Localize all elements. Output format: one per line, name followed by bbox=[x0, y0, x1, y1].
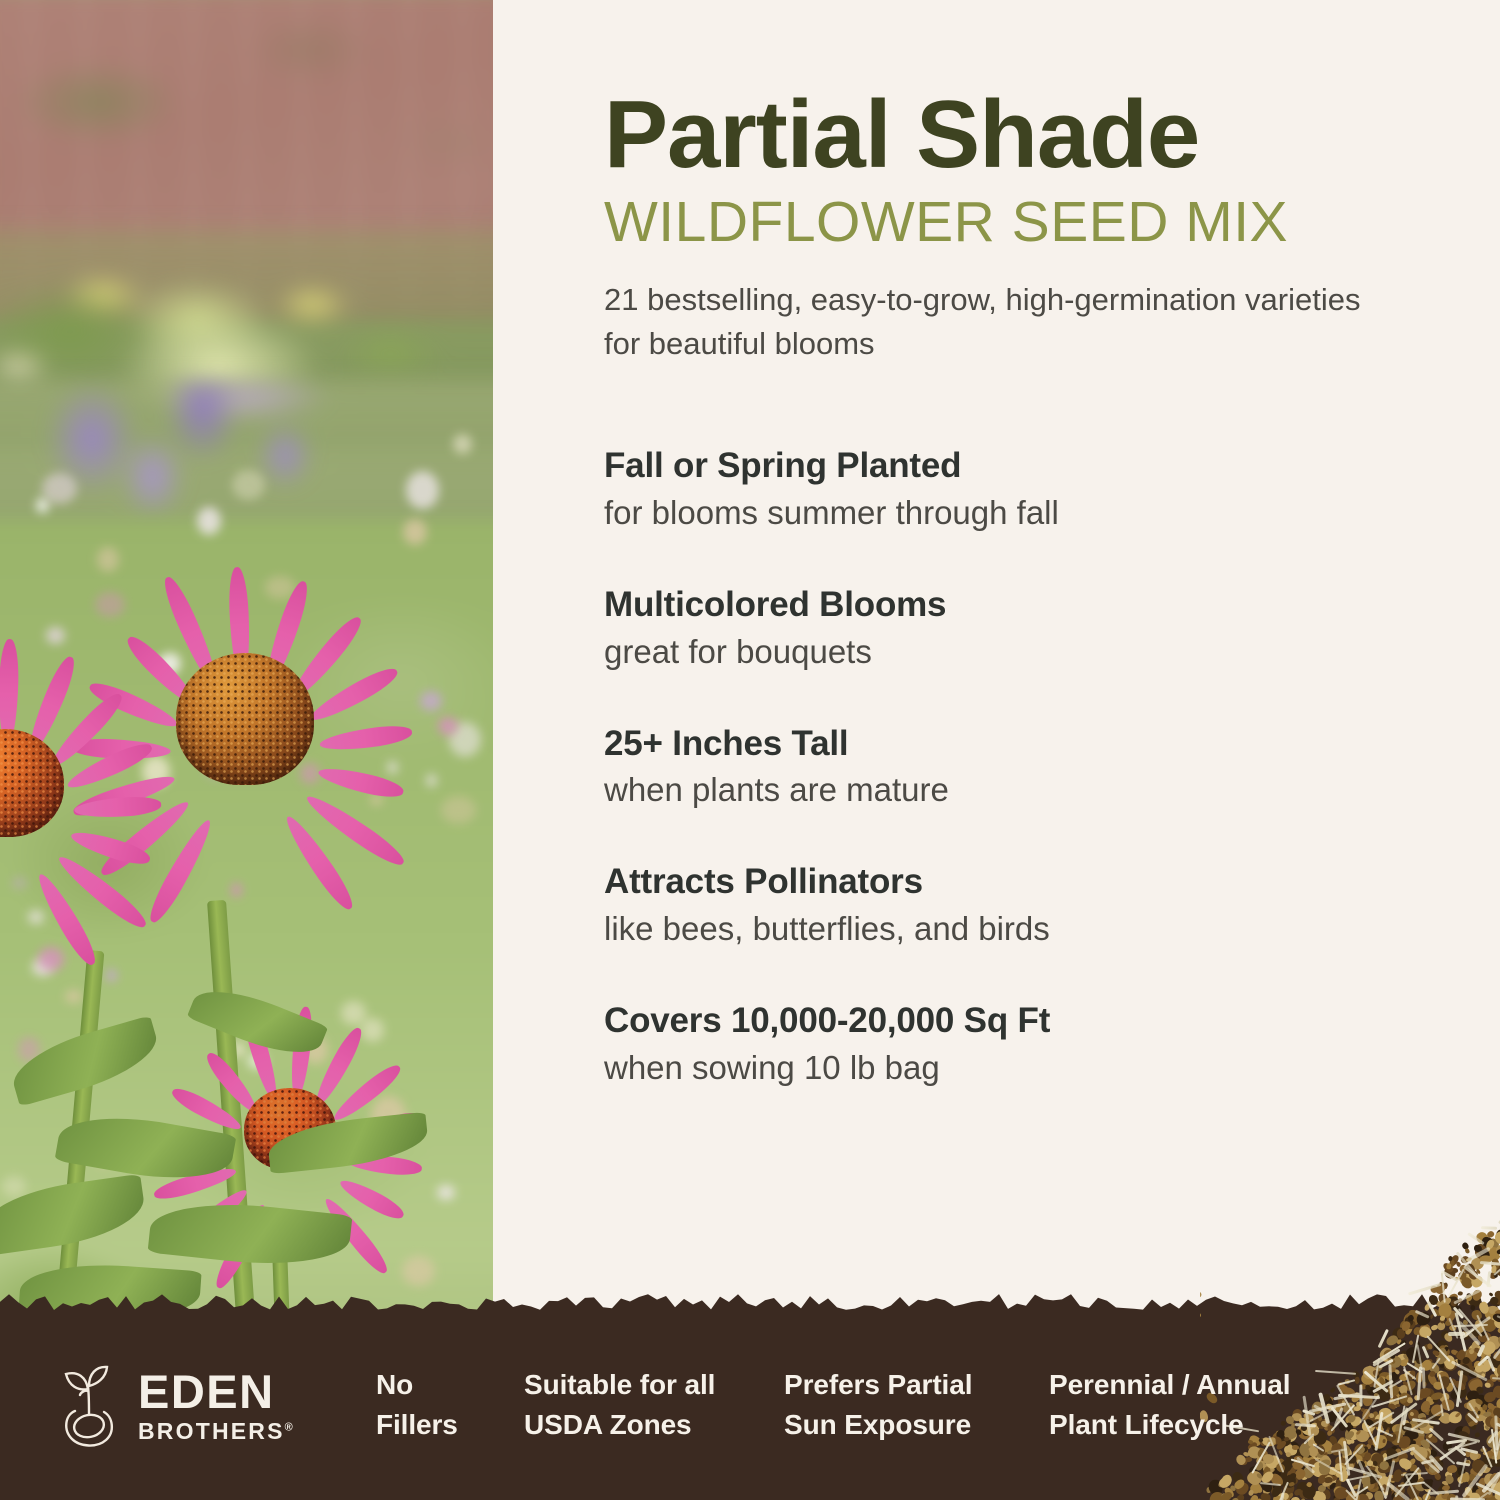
badge-line-1: Suitable for all bbox=[524, 1365, 784, 1405]
seed bbox=[1473, 1244, 1482, 1252]
feature-heading: Covers 10,000-20,000 Sq Ft bbox=[604, 999, 1444, 1043]
background-bloom bbox=[95, 592, 125, 618]
seed bbox=[1455, 1277, 1460, 1281]
background-bloom bbox=[231, 883, 243, 897]
badge-line-1: Prefers Partial bbox=[784, 1365, 1049, 1405]
seed bbox=[1486, 1230, 1495, 1239]
background-bloom bbox=[97, 547, 119, 571]
background-bloom bbox=[437, 1185, 456, 1200]
attribute-badges: NoFillersSuitable for allUSDA ZonesPrefe… bbox=[376, 1365, 1319, 1445]
footer-bar: EDEN BROTHERS® NoFillersSuitable for all… bbox=[0, 1310, 1500, 1500]
seed bbox=[1489, 1272, 1497, 1280]
seed bbox=[1494, 1227, 1500, 1243]
seed bbox=[1493, 1230, 1500, 1245]
seed bbox=[1458, 1271, 1468, 1281]
seed bbox=[1486, 1236, 1500, 1251]
feature-item: Attracts Pollinatorslike bees, butterfli… bbox=[604, 860, 1444, 951]
background-bloom bbox=[65, 990, 82, 1003]
background-bloom bbox=[341, 1001, 366, 1025]
seed bbox=[1497, 1248, 1500, 1255]
flower-cone-center bbox=[176, 653, 314, 784]
attribute-badge: Suitable for allUSDA Zones bbox=[524, 1365, 784, 1445]
seed bbox=[1476, 1268, 1481, 1274]
seed bbox=[1477, 1249, 1484, 1256]
feature-item: Covers 10,000-20,000 Sq Ftwhen sowing 10… bbox=[604, 999, 1444, 1090]
badge-line-2: Plant Lifecycle bbox=[1049, 1405, 1319, 1445]
seed bbox=[1458, 1264, 1468, 1273]
seed bbox=[1491, 1263, 1500, 1275]
seed bbox=[1485, 1246, 1500, 1262]
seed bbox=[1466, 1257, 1473, 1262]
badge-line-1: Perennial / Annual bbox=[1049, 1365, 1319, 1405]
seed bbox=[1446, 1263, 1451, 1269]
feature-subtext: when sowing 10 lb bag bbox=[604, 1047, 1444, 1090]
background-bloom bbox=[46, 627, 64, 644]
seed bbox=[1455, 1261, 1462, 1268]
background-bloom bbox=[403, 519, 427, 545]
seed bbox=[1480, 1254, 1492, 1264]
seed bbox=[1474, 1230, 1490, 1246]
seed bbox=[1485, 1238, 1496, 1250]
seed bbox=[1470, 1256, 1484, 1270]
feature-subtext: when plants are mature bbox=[604, 769, 1444, 812]
background-bloom bbox=[197, 507, 220, 535]
page-title: Partial Shade bbox=[604, 0, 1444, 184]
background-bloom bbox=[441, 796, 476, 824]
background-bloom bbox=[387, 761, 398, 774]
background-bloom bbox=[402, 1256, 435, 1286]
seed bbox=[1491, 1265, 1496, 1273]
feature-list: Fall or Spring Plantedfor blooms summer … bbox=[604, 444, 1444, 1089]
seed bbox=[1495, 1242, 1500, 1254]
registered-mark: ® bbox=[285, 1421, 295, 1433]
badge-line-2: Fillers bbox=[376, 1405, 524, 1445]
feature-item: 25+ Inches Tallwhen plants are mature bbox=[604, 722, 1444, 813]
seed-awn bbox=[1480, 1261, 1500, 1266]
seed bbox=[1460, 1254, 1471, 1265]
seed bbox=[1493, 1271, 1498, 1277]
background-bloom bbox=[42, 473, 77, 504]
content-column: Partial Shade WILDFLOWER SEED MIX 21 bes… bbox=[604, 0, 1444, 1310]
seed bbox=[1448, 1255, 1454, 1261]
attribute-badge: Perennial / AnnualPlant Lifecycle bbox=[1049, 1365, 1319, 1445]
seed bbox=[1474, 1243, 1488, 1259]
coneflower bbox=[120, 630, 370, 880]
background-bloom bbox=[426, 774, 437, 786]
background-bloom bbox=[38, 947, 64, 971]
seed bbox=[1481, 1236, 1492, 1246]
seed bbox=[1464, 1264, 1476, 1279]
seed bbox=[1464, 1248, 1470, 1254]
feature-subtext: like bees, butterflies, and birds bbox=[604, 908, 1444, 951]
background-bloom bbox=[232, 470, 265, 500]
badge-line-2: Sun Exposure bbox=[784, 1405, 1049, 1445]
seed-awn bbox=[1481, 1226, 1497, 1229]
seed bbox=[1448, 1253, 1460, 1267]
page-subtitle: WILDFLOWER SEED MIX bbox=[604, 192, 1444, 252]
seed bbox=[1492, 1247, 1500, 1255]
seed bbox=[1461, 1242, 1470, 1251]
background-bloom bbox=[361, 1018, 384, 1041]
badge-line-2: USDA Zones bbox=[524, 1405, 784, 1445]
seed bbox=[1450, 1260, 1455, 1268]
background-bloom bbox=[406, 471, 439, 509]
feature-item: Fall or Spring Plantedfor blooms summer … bbox=[604, 444, 1444, 535]
feature-item: Multicolored Bloomsgreat for bouquets bbox=[604, 583, 1444, 674]
feature-subtext: great for bouquets bbox=[604, 631, 1444, 674]
background-bloom bbox=[453, 434, 472, 454]
product-infographic: Partial Shade WILDFLOWER SEED MIX 21 bes… bbox=[0, 0, 1500, 1500]
seed-awn bbox=[1467, 1232, 1485, 1246]
feature-heading: Attracts Pollinators bbox=[604, 860, 1444, 904]
seed bbox=[1474, 1260, 1480, 1266]
background-bloom bbox=[420, 691, 442, 711]
eden-brothers-logo[interactable]: EDEN BROTHERS® bbox=[52, 1362, 302, 1448]
seed-awn bbox=[1456, 1252, 1479, 1279]
brand-eden-text: EDEN bbox=[138, 1368, 295, 1415]
product-description: 21 bestselling, easy-to-grow, high-germi… bbox=[604, 278, 1394, 366]
seed-awn bbox=[1466, 1247, 1490, 1263]
seed bbox=[1482, 1256, 1488, 1262]
seed bbox=[1490, 1258, 1500, 1270]
background-bloom bbox=[2, 1176, 26, 1197]
feature-subtext: for blooms summer through fall bbox=[604, 492, 1444, 535]
feature-heading: 25+ Inches Tall bbox=[604, 722, 1444, 766]
seed bbox=[1478, 1247, 1490, 1260]
attribute-badge: NoFillers bbox=[376, 1365, 524, 1445]
seed bbox=[1451, 1267, 1458, 1272]
seed-awn bbox=[1493, 1261, 1500, 1276]
seed bbox=[1444, 1267, 1456, 1279]
seed bbox=[1495, 1228, 1500, 1242]
brand-brothers-word: BROTHERS bbox=[138, 1418, 285, 1444]
background-bloom bbox=[106, 969, 117, 981]
brand-brothers-text: BROTHERS® bbox=[138, 1420, 295, 1443]
seed bbox=[1461, 1275, 1467, 1280]
seed bbox=[1468, 1269, 1480, 1281]
coneflower bbox=[0, 700, 120, 930]
feature-heading: Fall or Spring Planted bbox=[604, 444, 1444, 488]
seed bbox=[1492, 1259, 1500, 1278]
badge-line-1: No bbox=[376, 1365, 524, 1405]
attribute-badge: Prefers PartialSun Exposure bbox=[784, 1365, 1049, 1445]
coneflower-garden-photo bbox=[0, 0, 493, 1500]
feature-heading: Multicolored Blooms bbox=[604, 583, 1444, 627]
brand-wordmark: EDEN BROTHERS® bbox=[138, 1368, 295, 1443]
sprout-seed-icon bbox=[52, 1362, 126, 1448]
